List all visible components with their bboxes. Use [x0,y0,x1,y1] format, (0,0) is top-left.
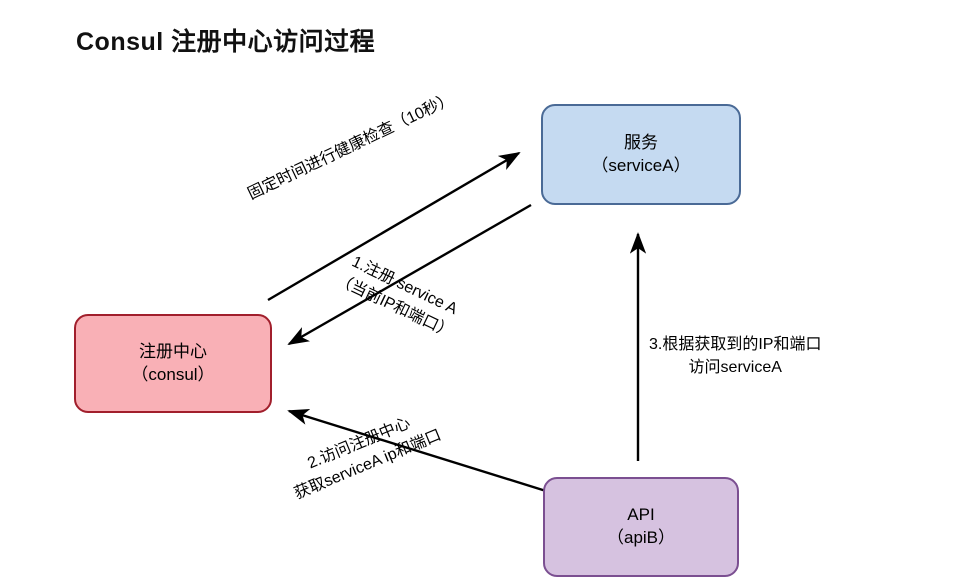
edge-label-health-check-line1: 固定时间进行健康检查（10秒） [244,88,458,206]
node-api-label-primary: API [627,504,654,527]
node-registry-label-primary: 注册中心 [139,341,207,364]
diagram-canvas: Consul 注册中心访问过程 服务 （serviceA） 注册中心 （cons… [0,0,960,584]
node-registry-label-secondary: （consul） [131,364,214,387]
edge-label-register: 1.注册 service A （当前IP和端口） [332,248,467,345]
arrow-layer [0,0,960,584]
node-service-label-primary: 服务 [624,132,658,155]
node-service[interactable]: 服务 （serviceA） [541,104,741,205]
node-service-label-secondary: （serviceA） [591,155,690,178]
node-registry[interactable]: 注册中心 （consul） [74,314,272,413]
edge-label-access-service-line2: 访问serviceA [649,356,821,379]
edge-label-query-registry: 2.访问注册中心 获取serviceA ip和端口 [282,403,445,506]
edge-label-health-check: 固定时间进行健康检查（10秒） [244,88,458,206]
edge-label-access-service-line1: 3.根据获取到的IP和端口 [649,333,821,356]
page-title: Consul 注册中心访问过程 [76,22,375,58]
edge-label-access-service: 3.根据获取到的IP和端口 访问serviceA [649,333,821,379]
node-api-label-secondary: （apiB） [607,527,675,550]
node-api[interactable]: API （apiB） [543,477,739,577]
